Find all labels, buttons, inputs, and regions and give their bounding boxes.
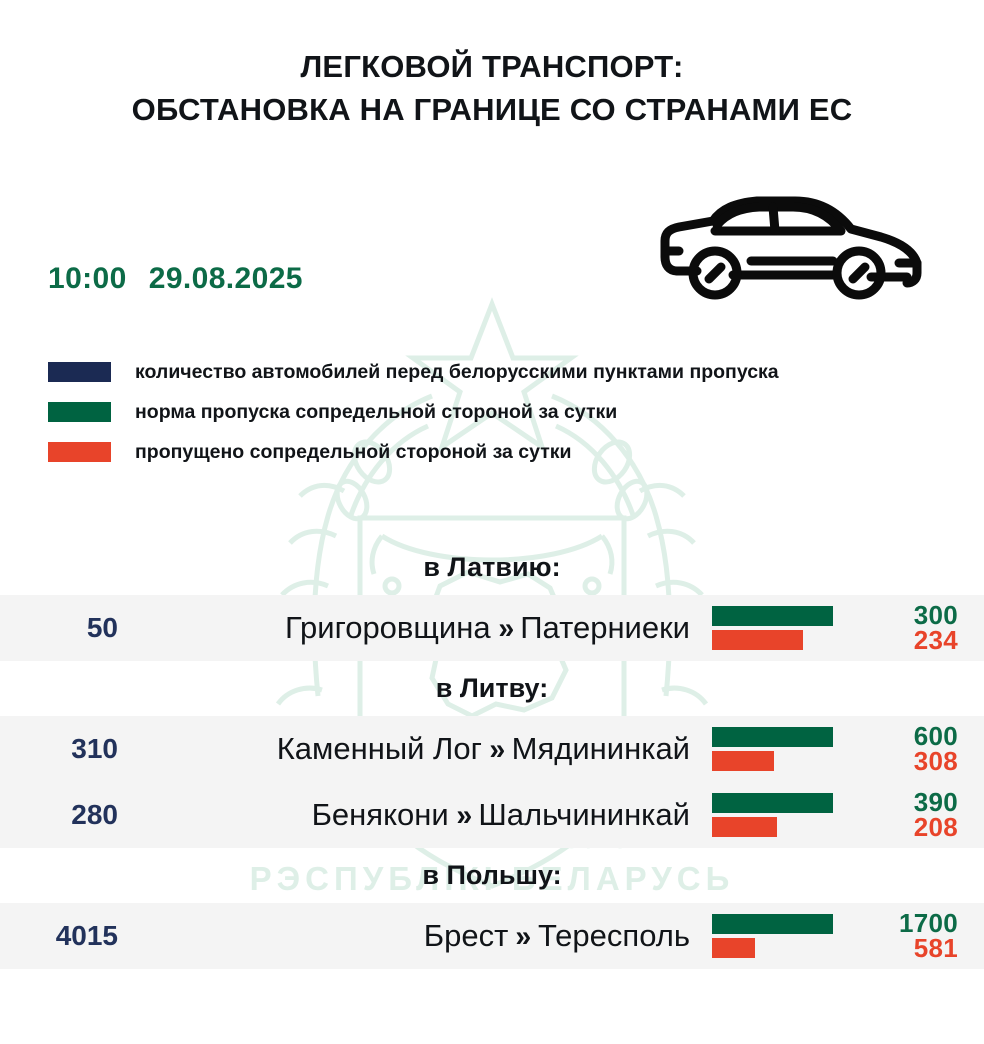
timestamp: 10:0029.08.2025: [48, 262, 303, 296]
legend-swatch-passed: [48, 442, 111, 462]
section-header: в Латвию:: [0, 540, 984, 595]
bar-norm: [712, 793, 833, 813]
arrow-right-icon: »: [489, 717, 502, 783]
bar-group: [712, 793, 842, 837]
bar-passed: [712, 938, 755, 958]
table-row: 4015Брест»Тересполь1700581: [0, 903, 984, 969]
value-passed: 208: [846, 815, 958, 840]
table-row: 310Каменный Лог»Мядининкай600308: [0, 716, 984, 782]
car-icon: [655, 185, 930, 305]
bar-group: [712, 727, 842, 771]
page-title: ЛЕГКОВОЙ ТРАНСПОРТ: ОБСТАНОВКА НА ГРАНИЦ…: [0, 0, 984, 132]
value-group: 600308: [846, 724, 958, 774]
legend-item-norm: норма пропуска сопредельной стороной за …: [48, 392, 779, 432]
title-line-1: ЛЕГКОВОЙ ТРАНСПОРТ:: [0, 46, 984, 89]
legend-swatch-queue: [48, 362, 111, 382]
route-to: Тересполь: [538, 918, 690, 953]
bar-passed: [712, 630, 803, 650]
timestamp-date: 29.08.2025: [149, 262, 303, 295]
arrow-right-icon: »: [516, 904, 529, 970]
queue-count: 4015: [0, 903, 118, 969]
bar-passed: [712, 817, 777, 837]
route: Брест»Тересполь: [130, 903, 690, 969]
bar-norm: [712, 914, 833, 934]
value-group: 390208: [846, 790, 958, 840]
timestamp-time: 10:00: [48, 262, 127, 295]
value-passed: 581: [846, 936, 958, 961]
route-to: Мядининкай: [512, 731, 690, 766]
route-from: Каменный Лог: [277, 731, 482, 766]
legend-item-passed: пропущено сопредельной стороной за сутки: [48, 432, 779, 472]
queue-count: 280: [0, 782, 118, 848]
route: Григоровщина»Патерниеки: [130, 595, 690, 661]
arrow-right-icon: »: [456, 783, 469, 849]
value-group: 300234: [846, 603, 958, 653]
section-header: в Польшу:: [0, 848, 984, 903]
title-line-2: ОБСТАНОВКА НА ГРАНИЦЕ СО СТРАНАМИ ЕС: [0, 89, 984, 132]
route: Каменный Лог»Мядининкай: [130, 716, 690, 782]
legend: количество автомобилей перед белорусским…: [48, 352, 779, 472]
route-to: Патерниеки: [520, 610, 690, 645]
route-from: Брест: [424, 918, 509, 953]
legend-swatch-norm: [48, 402, 111, 422]
bar-passed: [712, 751, 774, 771]
bar-norm: [712, 606, 833, 626]
queue-count: 310: [0, 716, 118, 782]
route-to: Шальчининкай: [478, 797, 690, 832]
route-from: Григоровщина: [285, 610, 491, 645]
bar-group: [712, 606, 842, 650]
legend-label-passed: пропущено сопредельной стороной за сутки: [135, 441, 572, 464]
route: Бенякони»Шальчининкай: [130, 782, 690, 848]
legend-label-queue: количество автомобилей перед белорусским…: [135, 361, 779, 384]
route-from: Бенякони: [312, 797, 449, 832]
value-passed: 308: [846, 749, 958, 774]
bar-group: [712, 914, 842, 958]
border-crossing-sections: в Латвию:50Григоровщина»Патерниеки300234…: [0, 540, 984, 969]
legend-label-norm: норма пропуска сопредельной стороной за …: [135, 401, 617, 424]
queue-count: 50: [0, 595, 118, 661]
arrow-right-icon: »: [498, 596, 511, 662]
section-header: в Литву:: [0, 661, 984, 716]
bar-norm: [712, 727, 833, 747]
value-group: 1700581: [846, 911, 958, 961]
legend-item-queue: количество автомобилей перед белорусским…: [48, 352, 779, 392]
table-row: 280Бенякони»Шальчининкай390208: [0, 782, 984, 848]
value-passed: 234: [846, 628, 958, 653]
table-row: 50Григоровщина»Патерниеки300234: [0, 595, 984, 661]
